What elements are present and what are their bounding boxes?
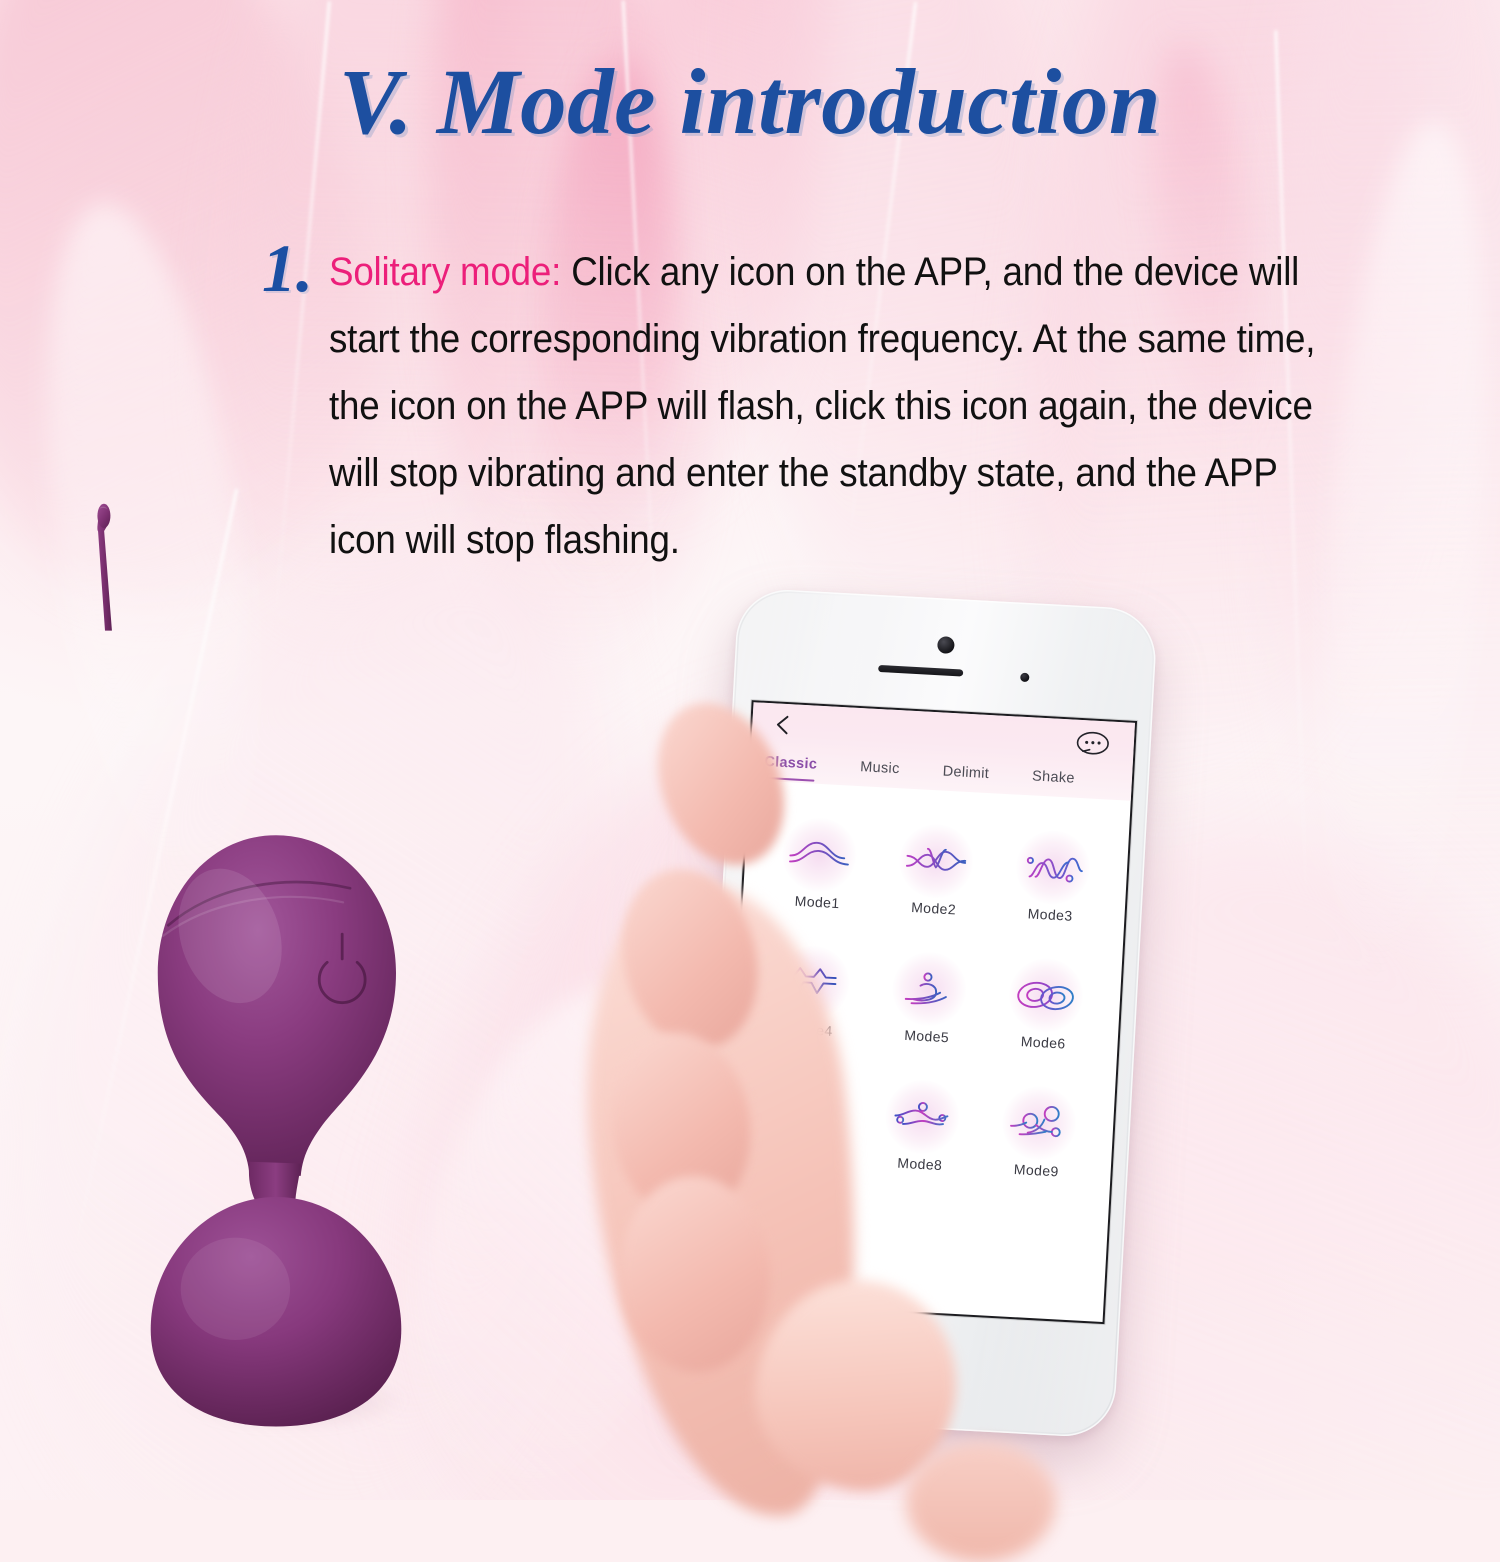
page-heading: V. Mode introduction — [0, 54, 1500, 153]
finger — [635, 684, 807, 884]
instruction-text: Solitary mode: Click any icon on the APP… — [329, 239, 1345, 574]
finger — [906, 1442, 1056, 1562]
instruction-body: Click any icon on the APP, and the devic… — [329, 250, 1315, 562]
instruction-highlight: Solitary mode: — [329, 250, 561, 294]
phone-in-hand: Classic Music Delimit Shake — [606, 580, 1166, 1500]
heading-title: V. Mode introduction — [0, 54, 1500, 153]
product-cord — [92, 270, 118, 870]
instruction-block: 1. Solitary mode: Click any icon on the … — [262, 228, 1422, 574]
hand — [606, 580, 1166, 1500]
product-body — [126, 800, 426, 1460]
list-number: 1. — [262, 234, 313, 302]
